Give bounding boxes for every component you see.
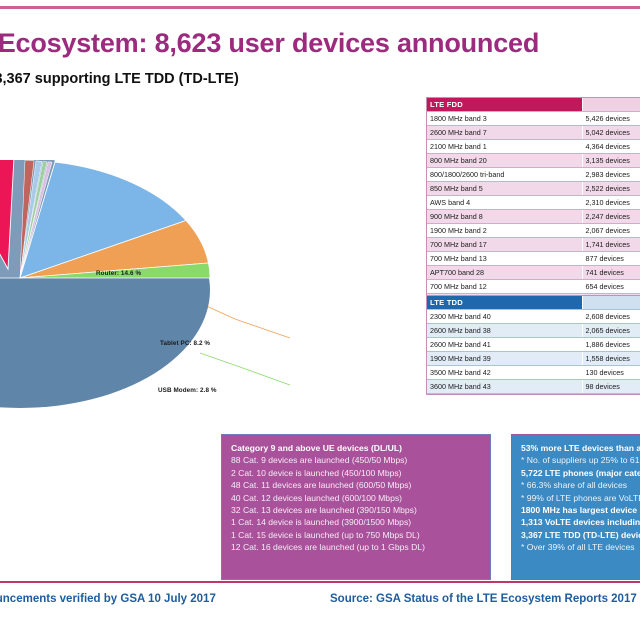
lte-stats-callout: 53% more LTE devices than a year ago* No… bbox=[511, 434, 640, 580]
fdd-header-band: LTE FDD bbox=[427, 98, 582, 112]
table-row: 2600 MHz band 75,042 devices bbox=[427, 126, 640, 140]
table-row: 800/1800/2600 tri-band2,983 devices bbox=[427, 168, 640, 182]
fdd-count-cell: 741 devices bbox=[582, 266, 640, 280]
table-row: 1900 MHz band 391,558 devices bbox=[427, 352, 640, 366]
pie-body bbox=[0, 160, 220, 450]
tdd-count-cell: 130 devices bbox=[582, 366, 640, 380]
tdd-header-band: LTE TDD bbox=[427, 296, 582, 310]
category-callout-line: 12 Cat. 16 devices are launched (up to 1… bbox=[231, 541, 481, 553]
category-callout-title: Category 9 and above UE devices (DL/UL) bbox=[231, 442, 481, 454]
tdd-count-cell: 98 devices bbox=[582, 380, 640, 394]
fdd-band-cell: 800/1800/2600 tri-band bbox=[427, 168, 582, 182]
stats-callout-line: 1800 MHz has largest device support bbox=[521, 504, 640, 516]
footer-rule bbox=[0, 581, 640, 583]
table-row: 2300 MHz band 402,608 devices bbox=[427, 310, 640, 324]
table-row: 700 MHz band 171,741 devices bbox=[427, 238, 640, 252]
category-callout-line: 1 Cat. 15 device is launched (up to 750 … bbox=[231, 529, 481, 541]
pie-label-usb-modem: USB Modem: 2.8 % bbox=[158, 387, 217, 394]
fdd-band-cell: 700 MHz band 13 bbox=[427, 252, 582, 266]
fdd-band-cell: 800 MHz band 20 bbox=[427, 154, 582, 168]
fdd-band-cell: 2600 MHz band 7 bbox=[427, 126, 582, 140]
table-row: 700 MHz band 13877 devices bbox=[427, 252, 640, 266]
fdd-header-count bbox=[582, 98, 640, 112]
table-row: AWS band 42,310 devices bbox=[427, 196, 640, 210]
table-row: 3600 MHz band 4398 devices bbox=[427, 380, 640, 394]
lte-tdd-table: LTE TDD2300 MHz band 402,608 devices2600… bbox=[426, 295, 640, 395]
table-row: 850 MHz band 52,522 devices bbox=[427, 182, 640, 196]
stats-callout-line: * 99% of LTE phones are VoLTE capable bbox=[521, 492, 640, 504]
stats-callout-line: 3,367 LTE TDD (TD-LTE) devices bbox=[521, 529, 640, 541]
fdd-count-cell: 2,247 devices bbox=[582, 210, 640, 224]
fdd-count-cell: 2,983 devices bbox=[582, 168, 640, 182]
fdd-band-cell: AWS band 4 bbox=[427, 196, 582, 210]
page-subtitle: Including 3,367 supporting LTE TDD (TD-L… bbox=[0, 71, 426, 87]
page-title: LTE Ecosystem: 8,623 user devices announ… bbox=[0, 28, 640, 59]
fdd-count-cell: 5,042 devices bbox=[582, 126, 640, 140]
lte-fdd-table: LTE FDD1800 MHz band 35,426 devices2600 … bbox=[426, 97, 640, 309]
table-row: 700 MHz band 12654 devices bbox=[427, 280, 640, 294]
tdd-count-cell: 1,558 devices bbox=[582, 352, 640, 366]
category-callout-line: 1 Cat. 14 device is launched (3900/1500 … bbox=[231, 516, 481, 528]
fdd-count-cell: 877 devices bbox=[582, 252, 640, 266]
table-row: 800 MHz band 203,135 devices bbox=[427, 154, 640, 168]
category-callout-line: 2 Cat. 10 device is launched (450/100 Mb… bbox=[231, 467, 481, 479]
fdd-count-cell: 2,067 devices bbox=[582, 224, 640, 238]
category-callout-line: 88 Cat. 9 devices are launched (450/50 M… bbox=[231, 454, 481, 466]
fdd-band-cell: 900 MHz band 8 bbox=[427, 210, 582, 224]
table-row: 3500 MHz band 42130 devices bbox=[427, 366, 640, 380]
fdd-band-cell: 850 MHz band 5 bbox=[427, 182, 582, 196]
stats-callout-line: * Over 39% of all LTE devices bbox=[521, 541, 640, 553]
fdd-band-cell: 700 MHz band 17 bbox=[427, 238, 582, 252]
category-9-callout: Category 9 and above UE devices (DL/UL) … bbox=[221, 434, 491, 580]
footer-source-text: Source: GSA Status of the LTE Ecosystem … bbox=[330, 593, 637, 605]
fdd-count-cell: 3,135 devices bbox=[582, 154, 640, 168]
tdd-count-cell: 2,065 devices bbox=[582, 324, 640, 338]
fdd-count-cell: 654 devices bbox=[582, 280, 640, 294]
fdd-count-cell: 5,426 devices bbox=[582, 112, 640, 126]
stats-callout-line: * No. of suppliers up 25% to 612 bbox=[521, 454, 640, 466]
tdd-count-cell: 2,608 devices bbox=[582, 310, 640, 324]
pie-label-router: Router: 14.6 % bbox=[96, 270, 141, 277]
table-row: 2600 MHz band 382,065 devices bbox=[427, 324, 640, 338]
tdd-band-cell: 3600 MHz band 43 bbox=[427, 380, 582, 394]
footer-verification-text: Device announcements verified by GSA 10 … bbox=[0, 593, 216, 605]
tdd-count-cell: 1,886 devices bbox=[582, 338, 640, 352]
tdd-header-row: LTE TDD bbox=[427, 296, 640, 310]
fdd-band-cell: 700 MHz band 12 bbox=[427, 280, 582, 294]
category-callout-line: 48 Cat. 11 devices are launched (600/50 … bbox=[231, 479, 481, 491]
category-callout-line: 40 Cat. 12 devices launched (600/100 Mbp… bbox=[231, 492, 481, 504]
table-row: 2600 MHz band 411,886 devices bbox=[427, 338, 640, 352]
pie-chart: Router: 14.6 % Tablet PC: 8.2 % USB Mode… bbox=[0, 100, 240, 450]
pie-label-tablet-pc: Tablet PC: 8.2 % bbox=[160, 340, 210, 347]
fdd-count-cell: 1,741 devices bbox=[582, 238, 640, 252]
fdd-count-cell: 2,522 devices bbox=[582, 182, 640, 196]
fdd-header-row: LTE FDD bbox=[427, 98, 640, 112]
tdd-band-cell: 1900 MHz band 39 bbox=[427, 352, 582, 366]
fdd-band-cell: 2100 MHz band 1 bbox=[427, 140, 582, 154]
tdd-band-cell: 3500 MHz band 42 bbox=[427, 366, 582, 380]
stats-callout-line: 53% more LTE devices than a year ago bbox=[521, 442, 640, 454]
table-row: APT700 band 28741 devices bbox=[427, 266, 640, 280]
stats-callout-line: 1,313 VoLTE devices including 1,224 phon… bbox=[521, 516, 640, 528]
table-row: 900 MHz band 82,247 devices bbox=[427, 210, 640, 224]
tdd-band-cell: 2600 MHz band 38 bbox=[427, 324, 582, 338]
fdd-band-cell: 1900 MHz band 2 bbox=[427, 224, 582, 238]
fdd-band-cell: 1800 MHz band 3 bbox=[427, 112, 582, 126]
stats-callout-line: 5,722 LTE phones (major category) bbox=[521, 467, 640, 479]
tdd-header-count bbox=[582, 296, 640, 310]
tdd-band-cell: 2600 MHz band 41 bbox=[427, 338, 582, 352]
table-row: 1800 MHz band 35,426 devices bbox=[427, 112, 640, 126]
category-callout-line: 32 Cat. 13 devices are launched (390/150… bbox=[231, 504, 481, 516]
fdd-count-cell: 2,310 devices bbox=[582, 196, 640, 210]
top-rule bbox=[0, 6, 640, 9]
fdd-band-cell: APT700 band 28 bbox=[427, 266, 582, 280]
table-row: 1900 MHz band 22,067 devices bbox=[427, 224, 640, 238]
table-row: 2100 MHz band 14,364 devices bbox=[427, 140, 640, 154]
stats-callout-line: * 66.3% share of all devices bbox=[521, 479, 640, 491]
fdd-count-cell: 4,364 devices bbox=[582, 140, 640, 154]
tdd-band-cell: 2300 MHz band 40 bbox=[427, 310, 582, 324]
